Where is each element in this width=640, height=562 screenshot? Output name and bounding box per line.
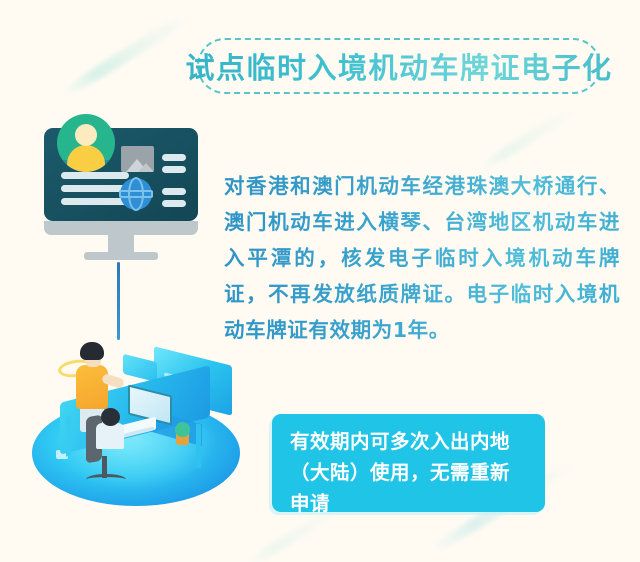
callout-text: 有效期内可多次入出内地（大陆）使用，无需重新申请	[290, 426, 529, 519]
globe-icon	[120, 178, 152, 210]
desk-leg	[196, 423, 201, 468]
standing-person-hair	[80, 342, 104, 360]
chat-bubble-panel	[123, 354, 157, 382]
page-title: 试点临时入境机动车牌证电子化	[186, 45, 613, 87]
title-banner: 试点临时入境机动车牌证电子化	[197, 38, 601, 94]
avatar-body	[67, 145, 105, 172]
card-text-bar	[61, 198, 129, 205]
watermark-streak	[60, 9, 194, 100]
card-text-bar	[162, 200, 186, 207]
monitor-foot	[84, 252, 158, 260]
plant-leaf	[175, 422, 190, 437]
photo-mountain-shape	[138, 163, 154, 172]
photo-placeholder-icon	[121, 146, 154, 172]
standing-person-body	[76, 365, 108, 409]
office-desk-illustration	[24, 338, 246, 510]
avatar-head	[75, 124, 97, 146]
user-avatar-icon	[57, 114, 115, 172]
connector-line	[117, 262, 120, 340]
highlight-callout-box: 有效期内可多次入出内地（大陆）使用，无需重新申请	[272, 414, 545, 512]
watermark-streak	[476, 101, 584, 174]
poster-canvas: 试点临时入境机动车牌证电子化 对香港和澳门机动车经港珠澳大桥通行、	[0, 0, 640, 562]
seated-person-body	[96, 423, 124, 449]
seated-person-head	[101, 408, 120, 426]
card-text-bar	[162, 154, 186, 161]
desk-leg	[66, 415, 71, 456]
monitor-base-strip	[44, 221, 198, 235]
id-card-monitor-illustration	[44, 128, 198, 268]
office-chair-wheels	[86, 474, 126, 485]
card-text-bar	[162, 166, 186, 173]
body-paragraph: 对香港和澳门机动车经港珠澳大桥通行、澳门机动车进入横琴、台湾地区机动车进入平潭的…	[224, 168, 620, 348]
card-text-bar	[61, 172, 129, 179]
card-text-bar	[162, 188, 186, 195]
monitor-neck	[108, 235, 134, 252]
